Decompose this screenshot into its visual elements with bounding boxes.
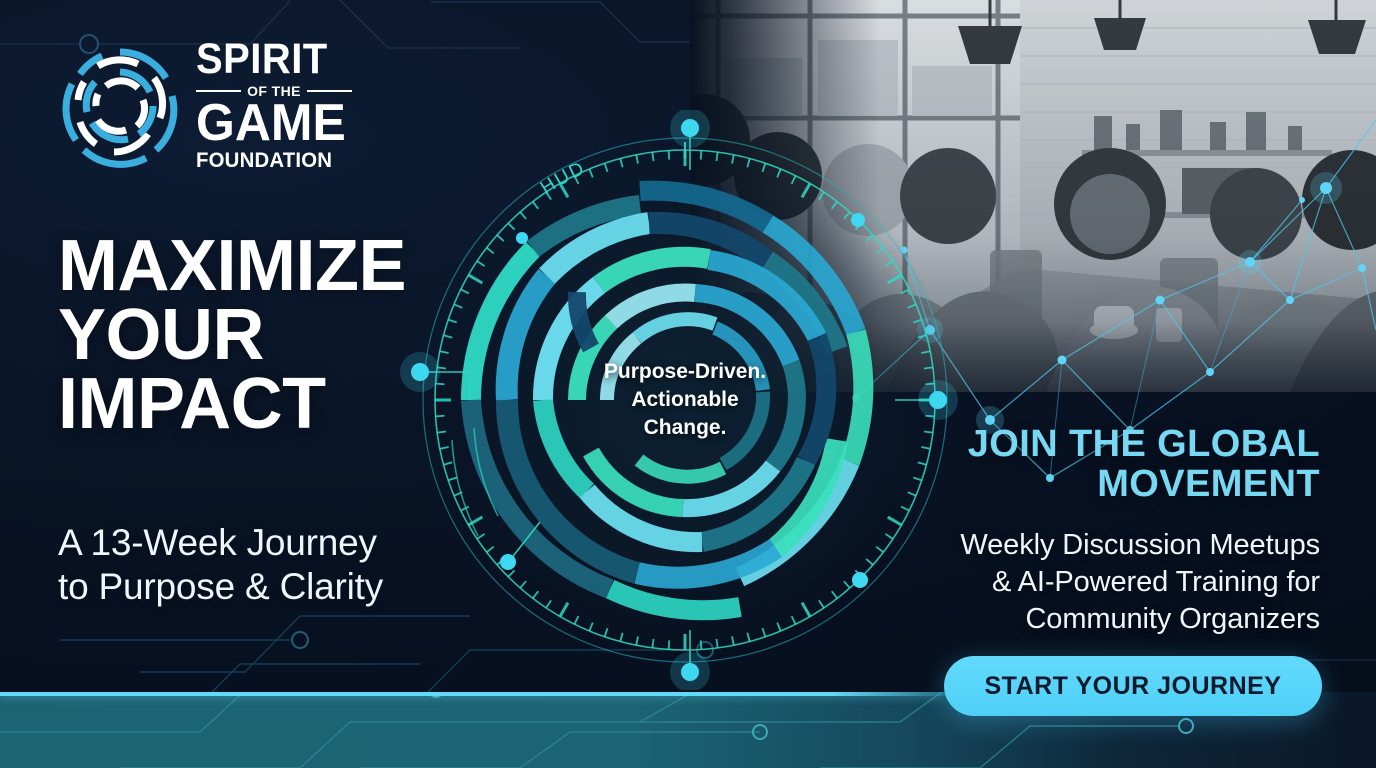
concentric-rings-logo-mark <box>58 44 182 170</box>
join-heading: JOIN THE GLOBAL MOVEMENT <box>900 424 1320 505</box>
right-copy-block: JOIN THE GLOBAL MOVEMENT Weekly Discussi… <box>900 424 1320 638</box>
promo-banner: SPIRIT OF THE GAME FOUNDATION MAXIMIZE Y… <box>0 0 1376 768</box>
logo-spirit-text: SPIRIT <box>196 40 341 80</box>
logo-wordmark: SPIRIT OF THE GAME FOUNDATION <box>196 40 352 173</box>
band-divider-line <box>0 692 945 696</box>
offer-line-2: & AI-Powered Training for <box>900 564 1320 601</box>
hud-graphic: HUD <box>390 110 980 690</box>
hud-center-line-1: Purpose-Driven. <box>560 358 810 386</box>
join-heading-line-2: MOVEMENT <box>900 464 1320 504</box>
logo-rule-left <box>196 90 241 92</box>
offer-line-3: Community Organizers <box>900 601 1320 638</box>
offer-line-1: Weekly Discussion Meetups <box>900 527 1320 564</box>
hud-center-line-2: Actionable <box>560 386 810 414</box>
start-your-journey-button[interactable]: START YOUR JOURNEY <box>944 656 1322 716</box>
join-heading-line-1: JOIN THE GLOBAL <box>900 424 1320 464</box>
brand-logo[interactable]: SPIRIT OF THE GAME FOUNDATION <box>58 40 352 173</box>
hud-center-text: Purpose-Driven. Actionable Change. <box>560 358 810 442</box>
hud-center-line-3: Change. <box>560 414 810 442</box>
logo-game-text: GAME <box>196 100 346 147</box>
logo-foundation-text: FOUNDATION <box>196 149 347 173</box>
logo-rule-right <box>307 90 352 92</box>
offer-description: Weekly Discussion Meetups & AI-Powered T… <box>900 527 1320 638</box>
